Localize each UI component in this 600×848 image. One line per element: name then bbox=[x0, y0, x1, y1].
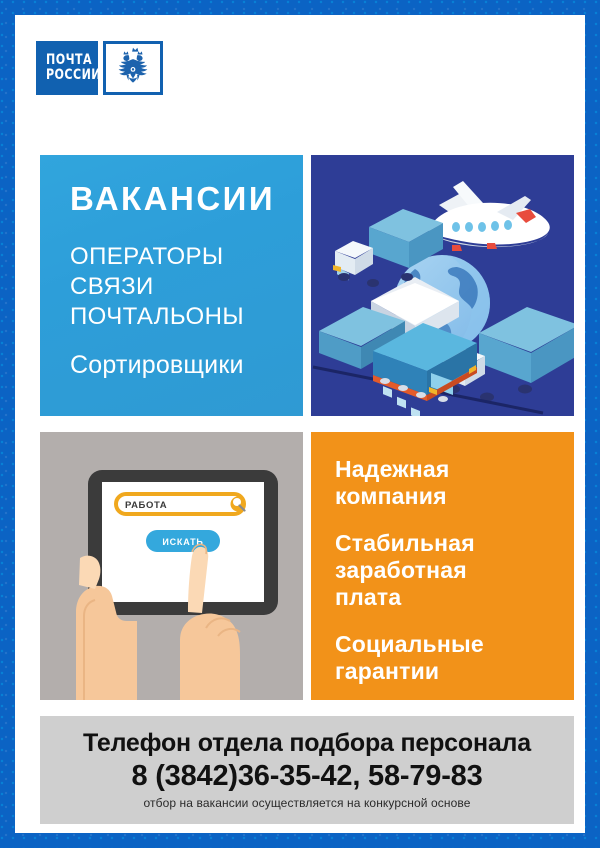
panel-tablet-illustration: РАБОТА ИСКАТЬ bbox=[40, 432, 303, 700]
benefit-item: Надежнаякомпания bbox=[335, 456, 562, 510]
panel-benefits: Надежнаякомпания Стабильнаязаработнаяпла… bbox=[311, 432, 574, 700]
vacancies-role-list: ОПЕРАТОРЫ СВЯЗИ ПОЧТАЛЬОНЫ bbox=[70, 242, 289, 332]
vacancies-role-item: СВЯЗИ bbox=[70, 272, 289, 302]
benefit-item: Стабильнаязаработнаяплата bbox=[335, 530, 562, 611]
tablet-search-field: РАБОТА bbox=[116, 494, 246, 514]
contact-phone-numbers: 8 (3842)36-35-42, 58-79-83 bbox=[131, 759, 482, 793]
logo-line-1: ПОЧТА bbox=[46, 53, 84, 68]
benefit-item: Социальныегарантии bbox=[335, 631, 562, 685]
contact-strip: Телефон отдела подбора персонала 8 (3842… bbox=[40, 716, 574, 824]
pochta-rossii-wordmark: ПОЧТА РОССИИ bbox=[36, 41, 98, 95]
tablet-search-button: ИСКАТЬ bbox=[146, 530, 220, 552]
contact-note: отбор на вакансии осуществляется на конк… bbox=[144, 796, 471, 811]
contact-title: Телефон отдела подбора персонала bbox=[83, 728, 531, 758]
vacancies-role-item: ПОЧТАЛЬОНЫ bbox=[70, 302, 289, 332]
panel-logistics-illustration bbox=[311, 155, 574, 416]
vacancies-role-item: ОПЕРАТОРЫ bbox=[70, 242, 289, 272]
double-headed-eagle-icon bbox=[103, 41, 163, 95]
panel-vacancies: ВАКАНСИИ ОПЕРАТОРЫ СВЯЗИ ПОЧТАЛЬОНЫ Сорт… bbox=[40, 155, 303, 416]
poster-sheet: ПОЧТА РОССИИ bbox=[15, 15, 585, 833]
svg-text:РАБОТА: РАБОТА bbox=[125, 500, 167, 511]
vacancies-title: ВАКАНСИИ bbox=[70, 181, 289, 217]
poster-root: ПОЧТА РОССИИ bbox=[0, 0, 600, 848]
brand-header: ПОЧТА РОССИИ bbox=[36, 41, 163, 95]
logo-line-2: РОССИИ bbox=[46, 68, 84, 83]
vacancies-extra-role: Сортировщики bbox=[70, 351, 289, 379]
